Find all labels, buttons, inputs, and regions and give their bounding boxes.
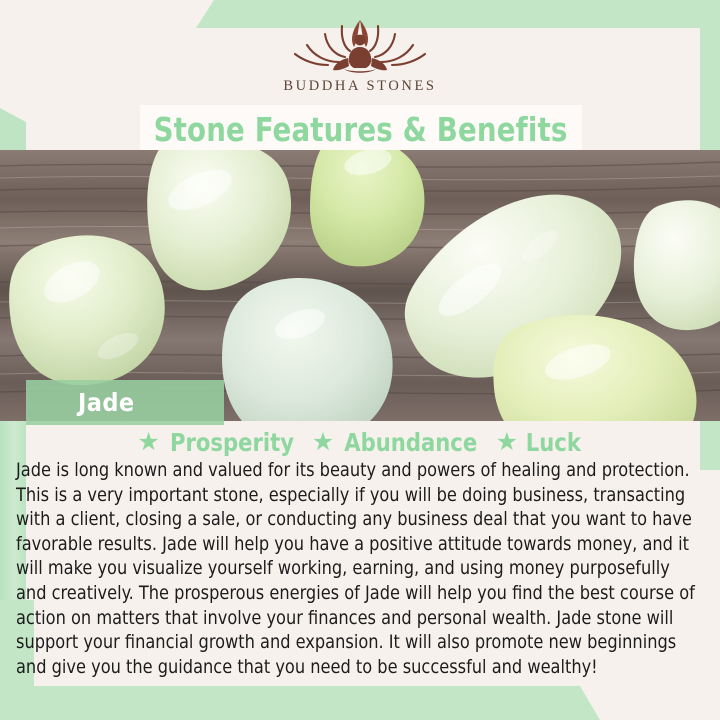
star-icon: ★ [496, 430, 518, 455]
stone-name-label: Jade [78, 388, 135, 417]
star-icon: ★ [137, 430, 159, 455]
lotus-meditation-icon [292, 14, 428, 76]
benefits-row: ★ Prosperity ★ Abundance ★ Luck [0, 428, 720, 457]
brand-logo: BUDDHA STONES [0, 0, 720, 108]
brand-name: BUDDHA STONES [283, 78, 436, 95]
benefit-label: Abundance [344, 428, 477, 457]
page-title: Stone Features & Benefits [154, 110, 568, 149]
decor-bottom-band [0, 686, 600, 720]
benefit-item-prosperity: ★ Prosperity [137, 428, 297, 457]
benefit-item-abundance: ★ Abundance [312, 428, 482, 457]
stone-description: Jade is long known and valued for its be… [16, 459, 696, 680]
stone-name-bar: Jade [26, 380, 224, 425]
benefit-item-luck: ★ Luck [496, 428, 583, 457]
title-banner: Stone Features & Benefits [140, 105, 582, 153]
benefit-label: Prosperity [170, 428, 294, 457]
stone-info-card: BUDDHA STONES Stone Features & Benefits [0, 0, 720, 720]
benefit-label: Luck [526, 428, 581, 457]
star-icon: ★ [312, 430, 334, 455]
